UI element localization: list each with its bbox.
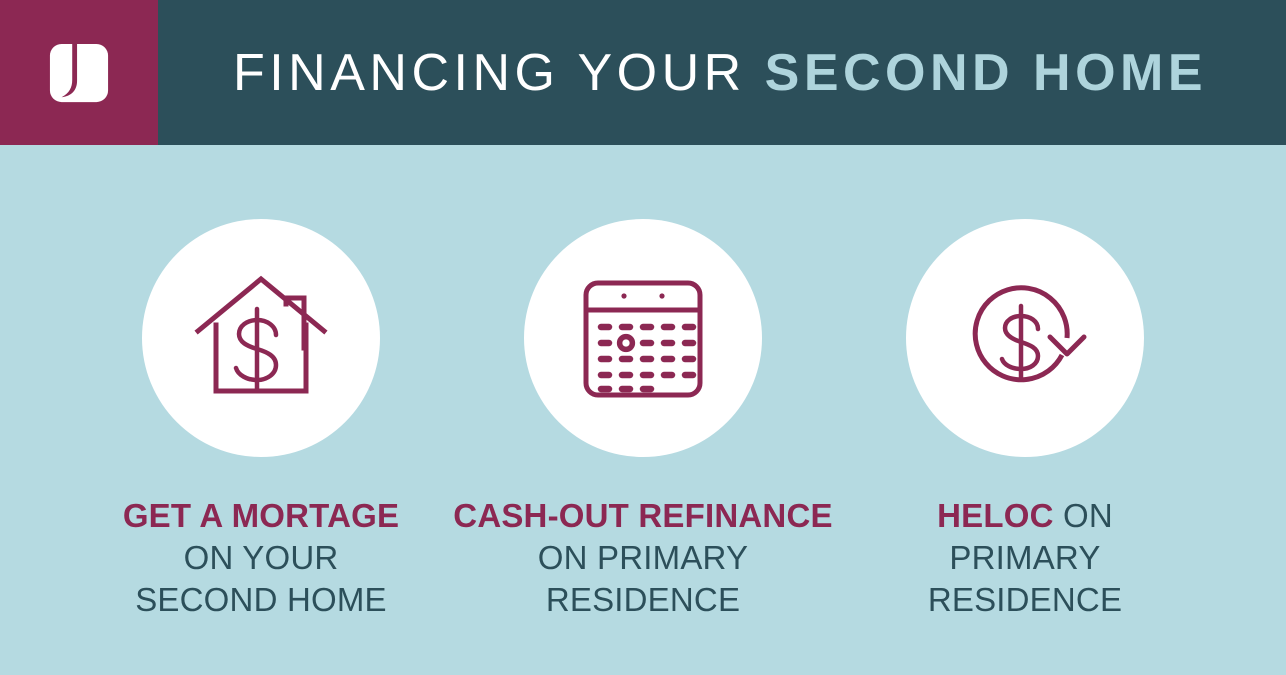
icon-circle-refinance	[524, 219, 762, 457]
calendar-icon	[568, 263, 718, 413]
column-heloc: HELOC ON PRIMARY RESIDENCE	[834, 145, 1216, 622]
circular-arrow-with-dollar-sign-icon	[950, 263, 1100, 413]
caption-rest-mortgage: ON YOUR SECOND HOME	[135, 539, 387, 618]
logo-block	[0, 0, 158, 145]
column-mortgage: GET A MORTAGE ON YOUR SECOND HOME	[70, 145, 452, 622]
caption-mortgage: GET A MORTAGE ON YOUR SECOND HOME	[111, 495, 411, 622]
caption-accent-mortgage: GET A MORTAGE	[123, 497, 399, 534]
caption-accent-refinance: CASH-OUT REFINANCE	[453, 497, 832, 534]
infographic-canvas: FINANCING YOUR SECOND HOME	[0, 0, 1286, 675]
page-title-bold: SECOND HOME	[765, 44, 1207, 102]
page-title-light: FINANCING YOUR	[233, 44, 746, 102]
icon-circle-mortgage	[142, 219, 380, 457]
caption-accent-heloc: HELOC	[937, 497, 1054, 534]
journal-logo-icon	[48, 42, 110, 104]
header-band: FINANCING YOUR SECOND HOME	[0, 0, 1286, 145]
house-with-dollar-sign-icon	[186, 263, 336, 413]
caption-refinance: CASH-OUT REFINANCE ON PRIMARY RESIDENCE	[452, 495, 834, 622]
caption-rest-refinance: ON PRIMARY RESIDENCE	[538, 539, 748, 618]
caption-heloc: HELOC ON PRIMARY RESIDENCE	[910, 495, 1140, 622]
icon-circle-heloc	[906, 219, 1144, 457]
column-cash-out-refinance: CASH-OUT REFINANCE ON PRIMARY RESIDENCE	[452, 145, 834, 622]
page-title: FINANCING YOUR SECOND HOME	[158, 47, 1286, 99]
columns-container: GET A MORTAGE ON YOUR SECOND HOME	[0, 145, 1286, 675]
